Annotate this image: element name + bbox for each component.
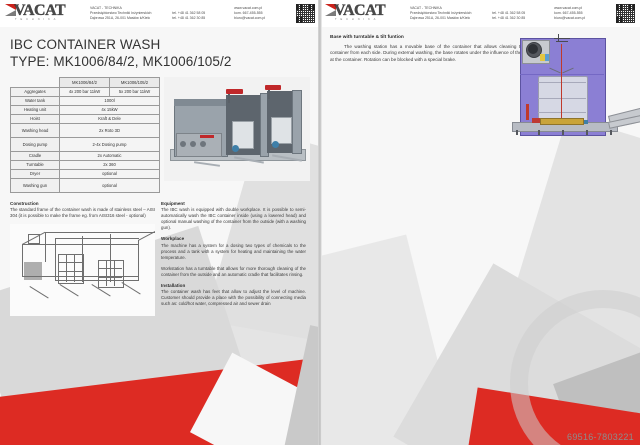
table-row: Dryer optional bbox=[11, 169, 160, 178]
spec-and-photo-row: MK1006/84/2 MK1006/105/2 Aggregates 4x 2… bbox=[10, 77, 310, 193]
spec-value: optional bbox=[60, 169, 160, 178]
right-page: VACAT T E C H N I K A VACAT - TECHNIKA P… bbox=[320, 0, 640, 445]
spec-value-col1: 4x 200 bar 11kW bbox=[60, 87, 110, 96]
spec-value: 2x Automatic bbox=[60, 151, 160, 160]
spec-header-mk1006-84-2: MK1006/84/2 bbox=[60, 78, 110, 88]
spec-value: 1000l bbox=[60, 96, 160, 105]
letterhead-right: VACAT T E C H N I K A VACAT - TECHNIKA P… bbox=[320, 0, 640, 27]
brochure-spread: VACAT T E C H N I K A VACAT - TECHNIKA P… bbox=[0, 0, 640, 445]
company-email[interactable]: biuro@vacat.com.pl bbox=[234, 16, 292, 21]
logo-subtext: T E C H N I K A bbox=[335, 18, 377, 21]
page-title-line1: IBC CONTAINER WASH bbox=[10, 36, 310, 53]
body-columns: Construction The standard frame of the c… bbox=[10, 201, 310, 317]
spec-label: Water tank bbox=[11, 96, 60, 105]
spec-label: Washing head bbox=[11, 123, 60, 137]
spec-value: 2-4x Dosing pump bbox=[60, 137, 160, 151]
section-heading-installation: Installation bbox=[161, 283, 306, 288]
company-tel-2: tel. +48 41 362 30 85 bbox=[492, 16, 550, 21]
spec-label: Cradle bbox=[11, 151, 60, 160]
table-row: Hoist Kraft & Dele bbox=[11, 114, 160, 123]
table-row: Aggregates 4x 200 bar 11kW 5x 200 bar 11… bbox=[11, 87, 160, 96]
specification-table: MK1006/84/2 MK1006/105/2 Aggregates 4x 2… bbox=[10, 77, 160, 193]
letterhead-left: VACAT T E C H N I K A VACAT - TECHNIKA P… bbox=[0, 0, 320, 27]
company-address-block: VACAT - TECHNIKA Przedsiębiorstwo Techni… bbox=[90, 6, 170, 20]
section-heading-workplace: Workplace bbox=[161, 236, 306, 241]
spec-header-mk1006-105-2: MK1006/105/2 bbox=[110, 78, 160, 88]
company-address: Dąbrowa 251A, 26-001 Masłów k/Kielc bbox=[410, 16, 490, 21]
section-text-workplace-2: Workstation has a turntable that allows … bbox=[161, 266, 306, 278]
company-email[interactable]: biuro@vacat.com.pl bbox=[554, 16, 612, 21]
column-right: Equipment The IBC wash is equipped with … bbox=[161, 201, 306, 317]
spec-value: Kraft & Dele bbox=[60, 114, 160, 123]
vacat-logo: VACAT T E C H N I K A bbox=[5, 2, 83, 25]
vacat-logo: VACAT T E C H N I K A bbox=[325, 2, 403, 25]
table-row: Water tank 1000l bbox=[11, 96, 160, 105]
table-row: Washing head 2x Roto 3D bbox=[11, 123, 160, 137]
section-text-workplace-1: The machine has a system for a dosing tw… bbox=[161, 243, 306, 261]
spec-header-blank bbox=[11, 78, 60, 88]
product-render-image bbox=[164, 77, 310, 181]
page-gutter bbox=[318, 0, 322, 445]
table-row: Dosing pump 2-4x Dosing pump bbox=[11, 137, 160, 151]
isometric-drawing-image bbox=[10, 224, 155, 316]
section-heading-construction: Construction bbox=[10, 201, 155, 206]
section-text-construction: The standard frame of the container wash… bbox=[10, 207, 155, 219]
company-address-block: VACAT - TECHNIKA Przedsiębiorstwo Techni… bbox=[410, 6, 490, 20]
logo-wordmark: VACAT bbox=[14, 3, 65, 19]
table-row: Heating unit 4x 15kW bbox=[11, 105, 160, 114]
spec-value: optional bbox=[60, 178, 160, 192]
page-title: IBC CONTAINER WASH TYPE: MK1006/84/2, MK… bbox=[10, 36, 310, 70]
cabin-render-image bbox=[504, 32, 636, 182]
spec-label: Dryer bbox=[11, 169, 60, 178]
left-page: VACAT T E C H N I K A VACAT - TECHNIKA P… bbox=[0, 0, 320, 445]
company-web-block: www.vacat.com.pl kom. 667-455-555 biuro@… bbox=[234, 6, 292, 20]
company-phone-block: tel. +48 41 362 58 05 tel. +48 41 362 30… bbox=[492, 6, 550, 20]
table-row: Washing gun optional bbox=[11, 178, 160, 192]
company-phone-block: tel. +48 41 362 58 05 tel. +48 41 362 30… bbox=[172, 6, 230, 20]
table-row: Turntable 2x 360 bbox=[11, 160, 160, 169]
page-title-line2: TYPE: MK1006/84/2, MK1006/105/2 bbox=[10, 53, 310, 70]
spec-label: Washing gun bbox=[11, 178, 60, 192]
spec-label: Turntable bbox=[11, 160, 60, 169]
section-text-installation: The container wash has feet that allow t… bbox=[161, 289, 306, 307]
qr-code-icon bbox=[616, 4, 635, 23]
table-row: Cradle 2x Automatic bbox=[11, 151, 160, 160]
spec-value: 2x 360 bbox=[60, 160, 160, 169]
spec-value-col2: 5x 200 bar 11kW bbox=[110, 87, 160, 96]
company-tel-2: tel. +48 41 362 30 85 bbox=[172, 16, 230, 21]
section-heading-equipment: Equipment bbox=[161, 201, 306, 206]
spec-label: Heating unit bbox=[11, 105, 60, 114]
company-address: Dąbrowa 251A, 26-001 Masłów k/Kielc bbox=[90, 16, 170, 21]
spec-label: Dosing pump bbox=[11, 137, 60, 151]
spec-label: Aggregates bbox=[11, 87, 60, 96]
spec-value: 4x 15kW bbox=[60, 105, 160, 114]
logo-subtext: T E C H N I K A bbox=[15, 18, 57, 21]
section-text-equipment: The IBC wash is equipped with double wor… bbox=[161, 207, 306, 231]
spec-label: Hoist bbox=[11, 114, 60, 123]
column-left: Construction The standard frame of the c… bbox=[10, 201, 155, 317]
logo-wordmark: VACAT bbox=[334, 3, 385, 19]
qr-code-icon bbox=[296, 4, 315, 23]
spec-value: 2x Roto 3D bbox=[60, 123, 160, 137]
document-id: 69516-7803221 bbox=[567, 432, 634, 442]
company-web-block: www.vacat.com.pl kom. 667-455-555 biuro@… bbox=[554, 6, 612, 20]
left-page-content: IBC CONTAINER WASH TYPE: MK1006/84/2, MK… bbox=[0, 36, 320, 316]
